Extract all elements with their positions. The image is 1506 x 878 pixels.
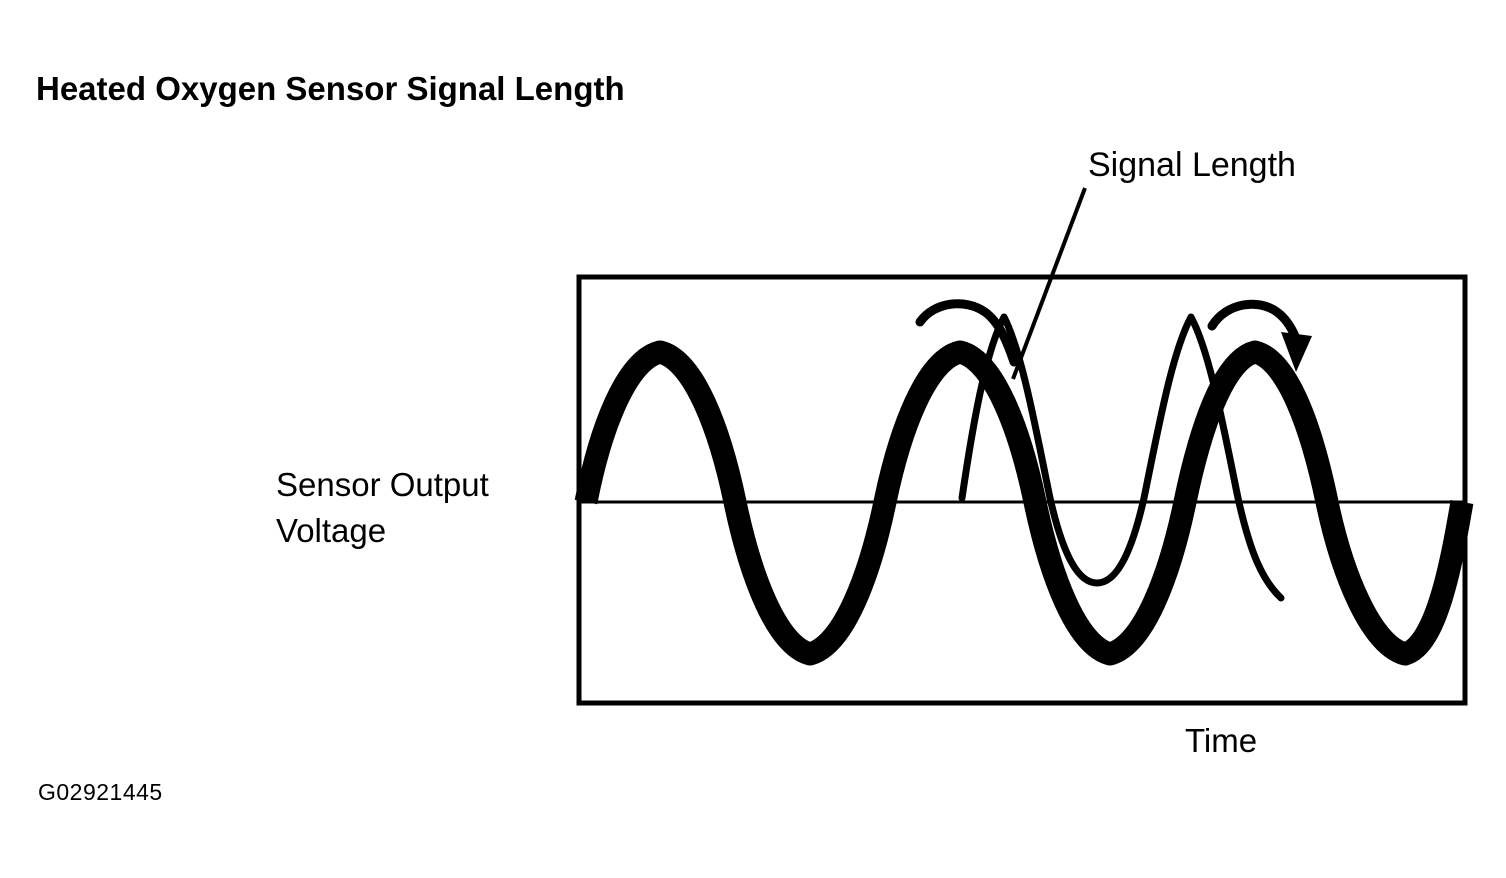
waveform-plot [0, 0, 1506, 878]
figure-page: Heated Oxygen Sensor Signal Length Signa… [0, 0, 1506, 878]
signal-length-leader-line [1013, 188, 1085, 379]
